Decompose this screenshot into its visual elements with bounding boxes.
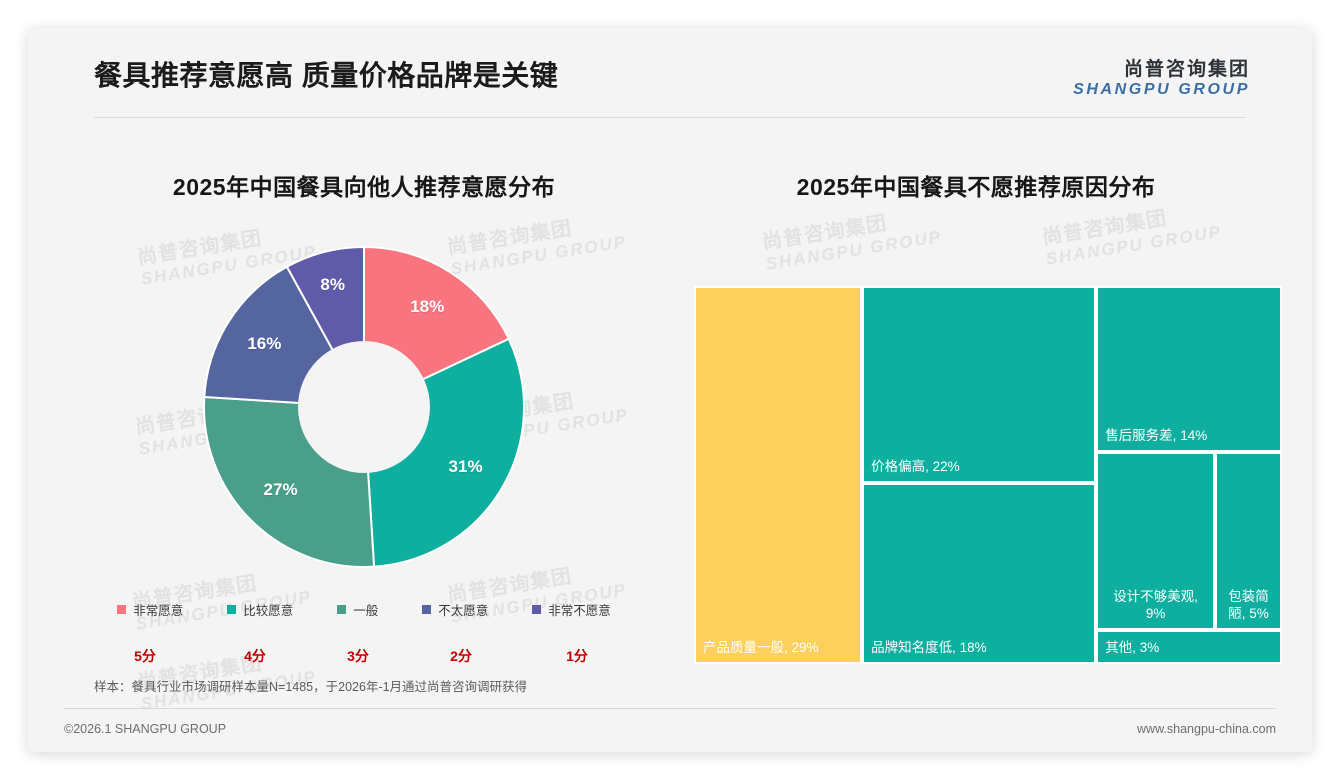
- chart-panel-donut: 2025年中国餐具向他人推荐意愿分布 18%31%27%16%8% 非常愿意比较…: [64, 168, 664, 708]
- treemap-chart: 产品质量一般, 29%价格偏高, 22%品牌知名度低, 18%售后服务差, 14…: [694, 286, 1282, 664]
- page-title: 餐具推荐意愿高 质量价格品牌是关键: [94, 54, 558, 94]
- legend-item[interactable]: 不太愿意: [422, 600, 488, 619]
- slide-header: 餐具推荐意愿高 质量价格品牌是关键 尚普咨询集团 SHANGPU GROUP: [28, 28, 1312, 117]
- legend-label: 非常愿意: [133, 600, 183, 619]
- donut-hole: [298, 341, 430, 473]
- logo-text-cn: 尚普咨询集团: [1073, 60, 1250, 81]
- treemap-tile[interactable]: 包装简陋, 5%: [1215, 452, 1282, 630]
- treemap-tile-label: 品牌知名度低, 18%: [871, 640, 1089, 657]
- chart-panel-treemap: 2025年中国餐具不愿推荐原因分布 产品质量一般, 29%价格偏高, 22%品牌…: [676, 168, 1276, 708]
- score-label: 2分: [428, 646, 494, 666]
- sample-note: 样本：餐具行业市场调研样本量N=1485，于2026年-1月通过尚普咨询调研获得: [94, 676, 527, 695]
- legend-label: 非常不愿意: [548, 600, 611, 619]
- donut-slice-label: 16%: [247, 334, 281, 354]
- treemap-tile-label: 产品质量一般, 29%: [703, 640, 855, 657]
- legend-swatch: [227, 605, 236, 614]
- legend-label: 一般: [353, 600, 378, 619]
- treemap-tile[interactable]: 产品质量一般, 29%: [694, 286, 862, 664]
- legend-swatch: [532, 605, 541, 614]
- treemap-tile[interactable]: 价格偏高, 22%: [862, 286, 1096, 483]
- treemap-tile[interactable]: 品牌知名度低, 18%: [862, 483, 1096, 664]
- brand-logo: 尚普咨询集团 SHANGPU GROUP: [1073, 60, 1250, 98]
- footer-divider: [64, 708, 1276, 709]
- legend-label: 比较愿意: [243, 600, 293, 619]
- footer-copyright: ©2026.1 SHANGPU GROUP: [64, 722, 226, 736]
- donut-slice-label: 8%: [320, 275, 345, 295]
- treemap-tile-label: 售后服务差, 14%: [1105, 428, 1275, 445]
- logo-text-en: SHANGPU GROUP: [1073, 81, 1250, 98]
- donut-slice-label: 18%: [410, 297, 444, 317]
- legend-item[interactable]: 一般: [337, 600, 378, 619]
- treemap-tile-label: 设计不够美观, 9%: [1102, 589, 1209, 623]
- legend-item[interactable]: 非常愿意: [117, 600, 183, 619]
- legend-label: 不太愿意: [438, 600, 488, 619]
- legend-swatch: [117, 605, 126, 614]
- score-label: 4分: [222, 646, 288, 666]
- score-label: 5分: [112, 646, 178, 666]
- donut-slice-label: 31%: [449, 457, 483, 477]
- header-divider: [94, 117, 1246, 118]
- donut-chart: 18%31%27%16%8%: [199, 242, 529, 572]
- slide-card: 尚普咨询集团 SHANGPU GROUP 尚普咨询集团 SHANGPU GROU…: [28, 28, 1312, 752]
- treemap-tile-label: 包装简陋, 5%: [1221, 589, 1276, 623]
- footer-website: www.shangpu-china.com: [1137, 722, 1276, 736]
- score-label: 3分: [332, 646, 384, 666]
- treemap-tile-label: 价格偏高, 22%: [871, 459, 1089, 476]
- donut-score-row: 5分4分3分2分1分: [64, 646, 664, 666]
- donut-svg: [199, 242, 529, 572]
- legend-item[interactable]: 比较愿意: [227, 600, 293, 619]
- treemap-tile[interactable]: 售后服务差, 14%: [1096, 286, 1282, 452]
- treemap-tile[interactable]: 设计不够美观, 9%: [1096, 452, 1215, 630]
- score-label: 1分: [538, 646, 616, 666]
- legend-swatch: [337, 605, 346, 614]
- treemap-tile-label: 其他, 3%: [1105, 640, 1275, 657]
- donut-slice-label: 27%: [264, 480, 298, 500]
- treemap-tile[interactable]: 其他, 3%: [1096, 630, 1282, 664]
- donut-legend: 非常愿意比较愿意一般不太愿意非常不愿意: [64, 600, 664, 619]
- treemap-chart-title: 2025年中国餐具不愿推荐原因分布: [676, 168, 1276, 202]
- legend-swatch: [422, 605, 431, 614]
- legend-item[interactable]: 非常不愿意: [532, 600, 611, 619]
- donut-chart-title: 2025年中国餐具向他人推荐意愿分布: [64, 168, 664, 202]
